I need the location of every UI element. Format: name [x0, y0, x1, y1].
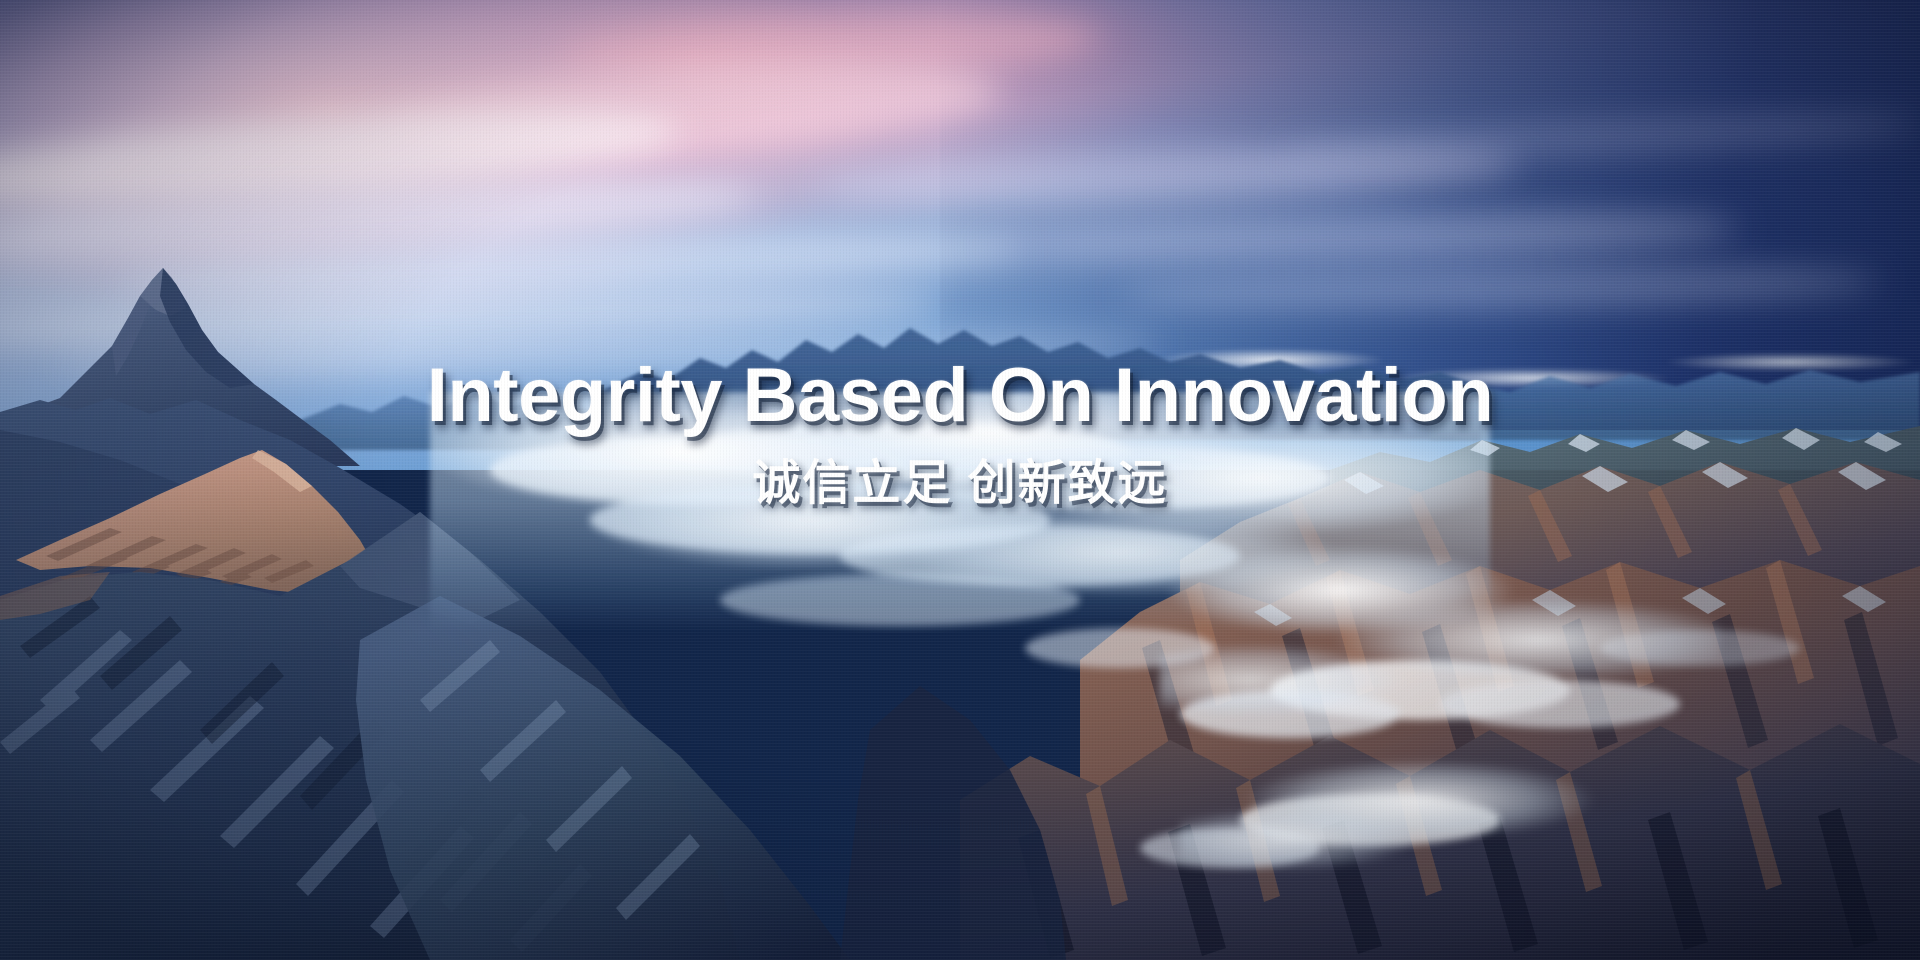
hero-banner: Integrity Based On Innovation 诚信立足 创新致远 — [0, 0, 1920, 960]
sea-of-clouds-right — [1160, 520, 1720, 740]
ridge-far-right — [1430, 370, 1920, 440]
cloud-bank-lower-right — [1180, 740, 1700, 890]
center-dark-spur — [840, 686, 1066, 960]
foreground-ridge-center — [356, 596, 850, 960]
